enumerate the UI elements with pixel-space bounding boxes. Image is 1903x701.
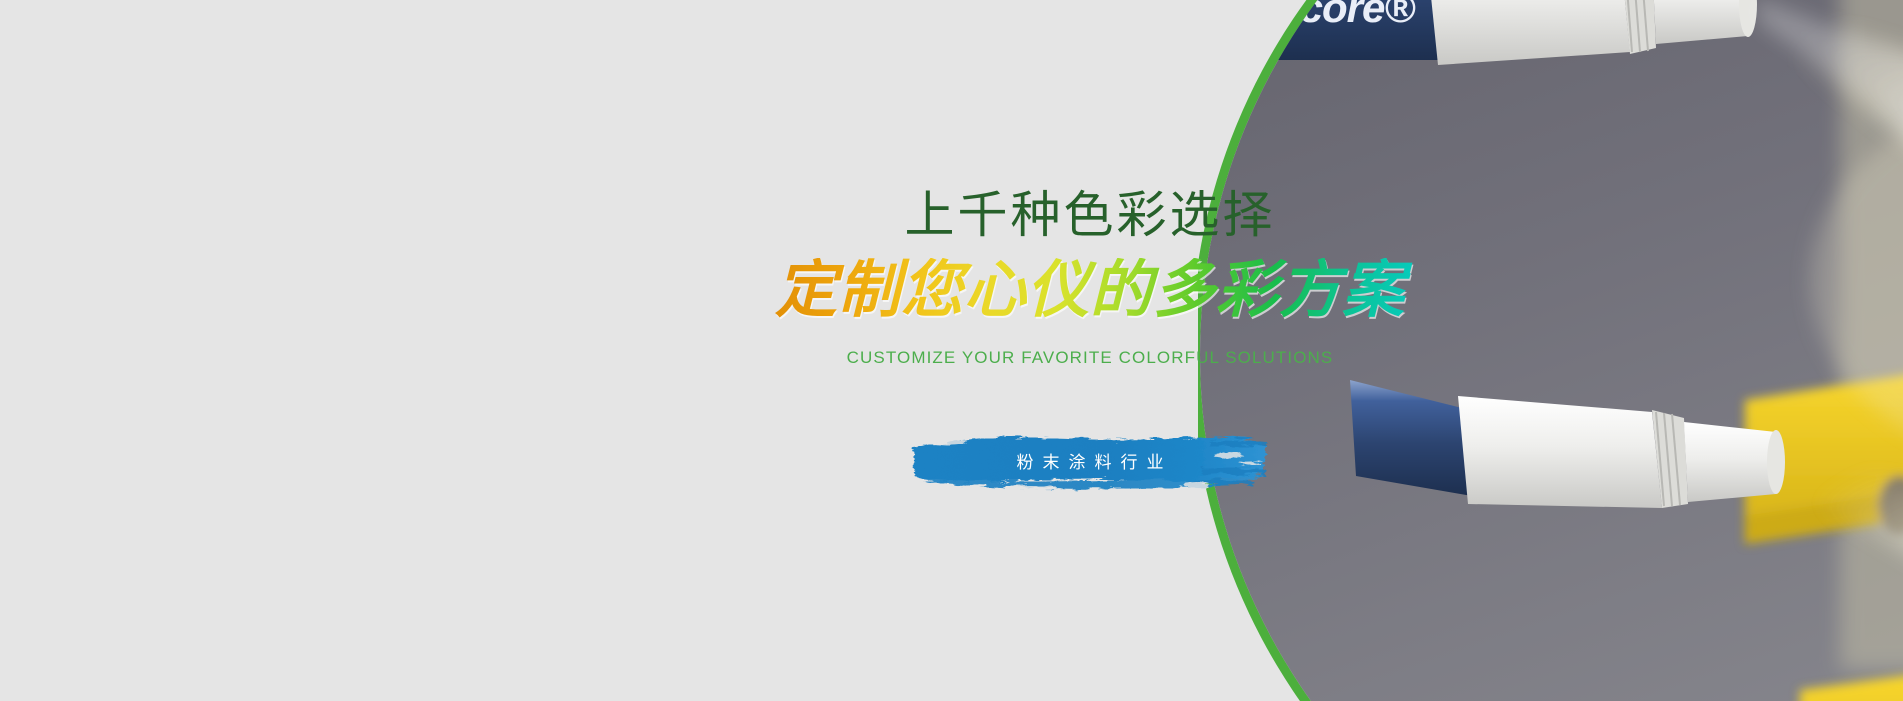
headline-secondary: 定制您心仪的多彩方案: [760, 258, 1420, 323]
headline-primary: 上千种色彩选择: [760, 190, 1420, 240]
headline-subtitle-english: CUSTOMIZE YOUR FAVORITE COLORFUL SOLUTIO…: [760, 348, 1420, 368]
promo-banner: Encore®: [0, 0, 1903, 701]
industry-tag[interactable]: 粉末涂料行业: [910, 425, 1270, 497]
banner-copy: 上千种色彩选择 定制您心仪的多彩方案 CUSTOMIZE YOUR FAVORI…: [760, 0, 1420, 701]
industry-tag-label: 粉末涂料行业: [910, 425, 1270, 497]
